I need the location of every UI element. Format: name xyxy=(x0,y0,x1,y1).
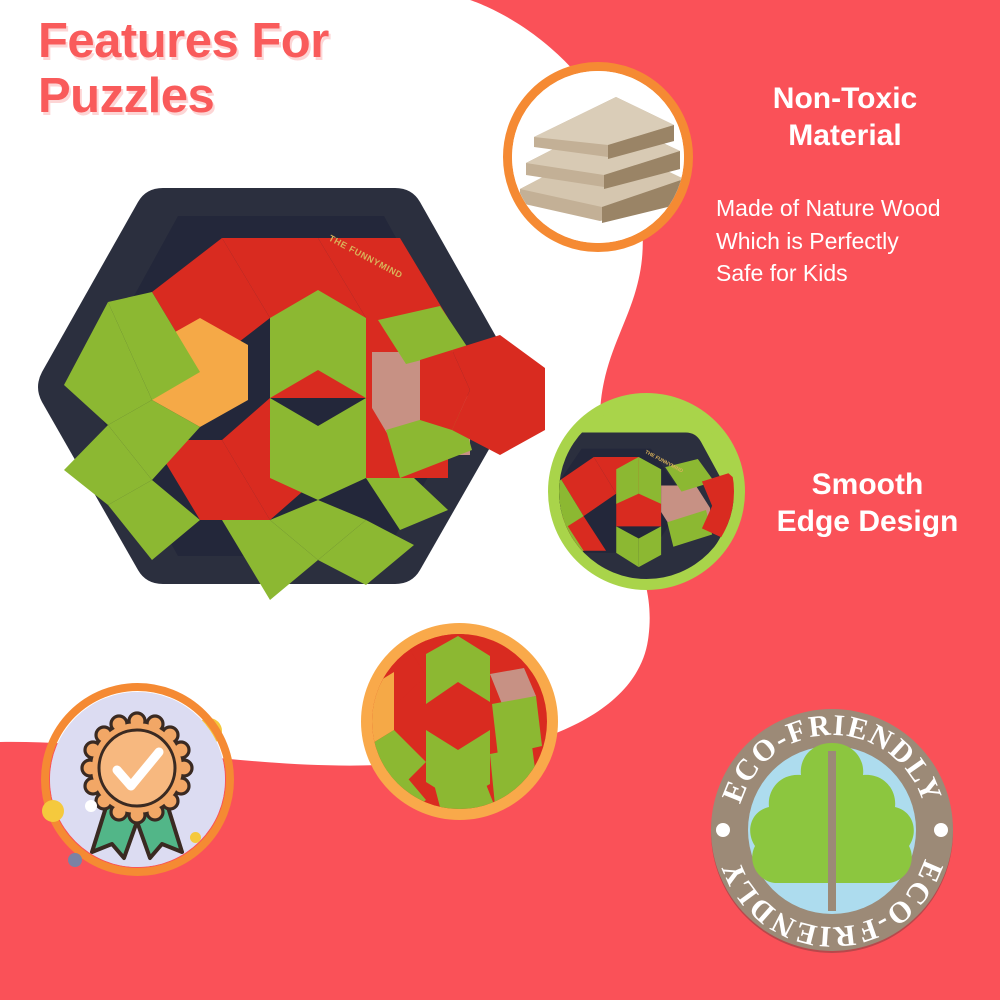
decor-dot-white-inner xyxy=(85,800,97,812)
decor-dot-slate-bottom xyxy=(68,853,82,867)
infographic-canvas: Features For Puzzles xyxy=(0,0,1000,1000)
eco-friendly-badge: ECO-FRIENDLY ECO-FRIENDLY xyxy=(707,705,957,955)
feature-icon-wood-boards xyxy=(512,71,684,243)
decor-dot-yellow-bottom-right xyxy=(190,832,201,843)
feature-title-smooth-edge: Smooth Edge Design xyxy=(740,466,995,540)
feature-icon-bright-colors xyxy=(372,634,547,809)
feature-icon-smooth-edge: THE FUNNYMIND xyxy=(559,404,734,579)
decor-dot-yellow-left xyxy=(42,800,64,822)
feature-title-non-toxic: Non-Toxic Material xyxy=(700,80,990,154)
wood-boards-icon xyxy=(512,71,684,243)
puzzle-closeup-bright-icon xyxy=(372,634,547,809)
feature-body-non-toxic: Made of Nature Wood Which is Perfectly S… xyxy=(716,192,1000,290)
eco-friendly-seal-icon: ECO-FRIENDLY ECO-FRIENDLY xyxy=(707,705,957,955)
puzzle-closeup-smooth-icon: THE FUNNYMIND xyxy=(559,404,734,579)
